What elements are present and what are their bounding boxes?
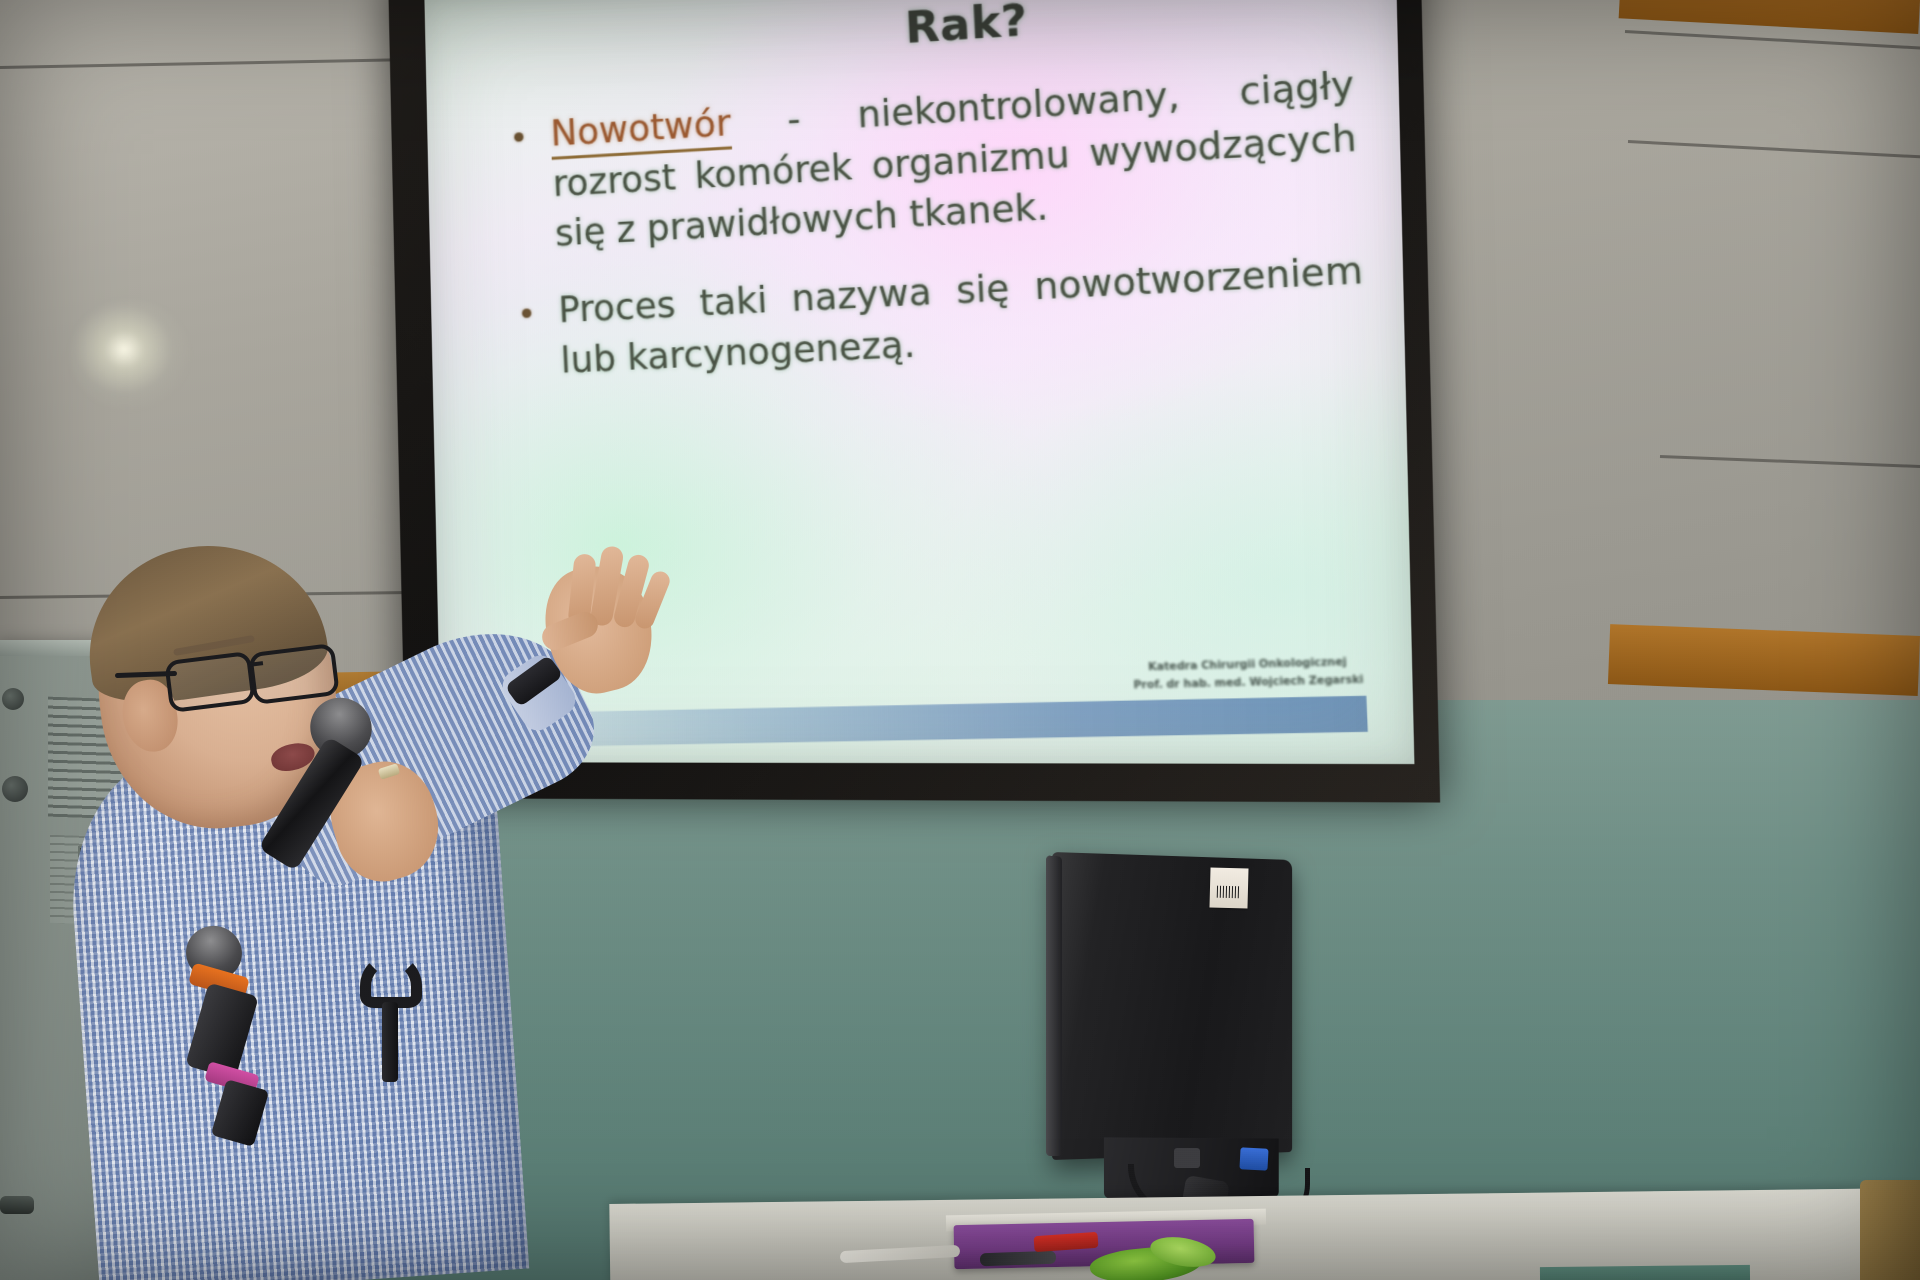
slide-keyword-nowotwor: Nowotwór — [550, 103, 732, 159]
slide-bullet-1-text: - niekontrolowany, ciągły rozrost komóre… — [552, 65, 1358, 255]
rack-knob — [2, 688, 24, 710]
rack-handle — [0, 1196, 34, 1214]
asset-barcode-label — [1209, 868, 1248, 909]
pen-dark — [980, 1251, 1056, 1267]
slide-bullet-2: Proces taki nazywa się nowotworzeniem lu… — [503, 246, 1367, 390]
wooden-chair — [1860, 1180, 1920, 1280]
eyeglasses-right-lens — [248, 643, 340, 705]
slide-footer: Katedra Chirurgii Onkologicznej Prof. dr… — [1132, 653, 1364, 695]
microphone-holder — [352, 954, 442, 1084]
monitor-back-panel — [1052, 852, 1292, 1160]
holder-clip — [360, 954, 422, 1008]
rack-knob — [2, 776, 28, 802]
holder-stem — [382, 1002, 398, 1082]
monitor-side-edge — [1046, 855, 1062, 1156]
slide-bullet-1: Nowotwór - niekontrolowany, ciągły rozro… — [495, 61, 1360, 264]
wood-trim-right — [1608, 624, 1920, 696]
table-microphone — [182, 926, 292, 1126]
presenter — [55, 548, 775, 1280]
slide-bullet-2-text: Proces taki nazywa się nowotworzeniem lu… — [558, 250, 1364, 381]
wall-light-glow — [70, 300, 190, 410]
slide-bullet-list: Nowotwór - niekontrolowany, ciągły rozro… — [495, 61, 1367, 390]
lecture-hall-photo: Rak? Nowotwór - niekontrolowany, ciągły … — [0, 0, 1920, 1280]
handheld-microphone — [306, 698, 446, 870]
chair-backrest — [1540, 1265, 1750, 1280]
eyeglasses-left-lens — [164, 651, 256, 713]
